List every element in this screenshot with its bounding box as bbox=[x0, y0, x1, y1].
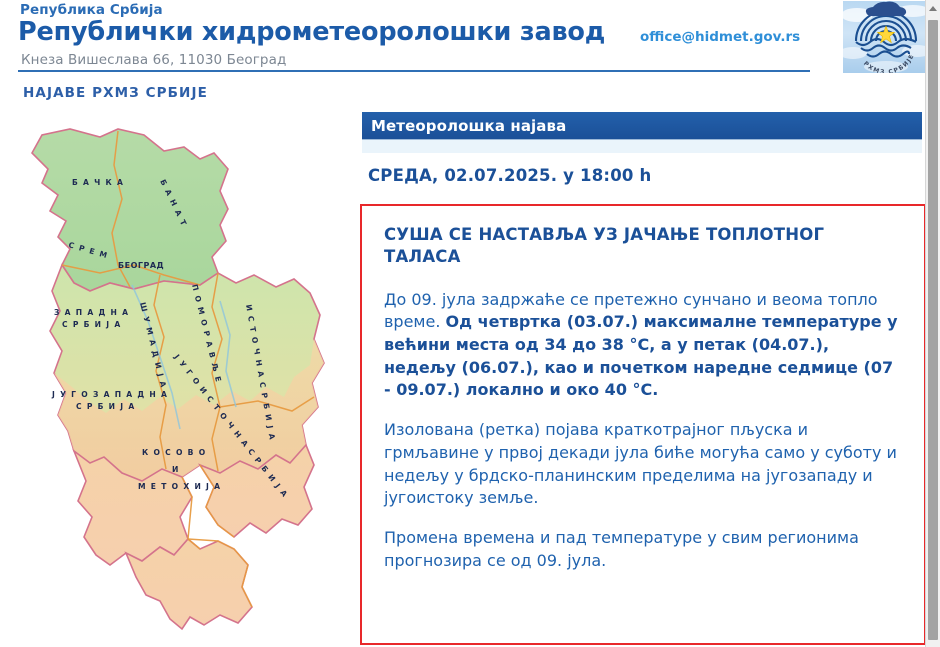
page-scrollbar[interactable] bbox=[925, 0, 940, 647]
map-label-jugozapadna-srbija-1: Ј У Г О З А П А Д Н А bbox=[51, 390, 168, 399]
institute-name: Републички хидрометеоролошки завод bbox=[18, 17, 605, 47]
site-header: Република Србија Републички хидрометеоро… bbox=[0, 0, 940, 78]
chevron-up-icon[interactable] bbox=[926, 0, 940, 17]
alert-heading: СУША СЕ НАСТАВЉА УЗ ЈАЧАЊЕ ТОПЛОТНОГ ТАЛ… bbox=[384, 224, 904, 269]
map-label-zapadna-srbija-1: З А П А Д Н А bbox=[54, 308, 129, 317]
bulletin-panel: Метеоролошка најава СРЕДА, 02.07.2025. у… bbox=[362, 112, 922, 185]
bulletin-timestamp: СРЕДА, 02.07.2025. у 18:00 h bbox=[362, 166, 922, 185]
bulletin-header-label: Метеоролошка најава bbox=[362, 117, 566, 135]
weather-alert-box: СУША СЕ НАСТАВЉА УЗ ЈАЧАЊЕ ТОПЛОТНОГ ТАЛ… bbox=[360, 204, 926, 645]
page-root: Република Србија Републички хидрометеоро… bbox=[0, 0, 940, 647]
map-label-zapadna-srbija-2: С Р Б И Ј А bbox=[62, 320, 122, 329]
alert-paragraph-2: Изолована (ретка) појава краткотрајног п… bbox=[384, 419, 904, 510]
map-label-jugozapadna-srbija-2: С Р Б И Ј А bbox=[76, 402, 136, 411]
map-label-beograd: БЕОГРАД bbox=[118, 261, 164, 270]
country-name: Република Србија bbox=[20, 2, 163, 18]
institute-address: Кнеза Вишеслава 66, 11030 Београд bbox=[21, 52, 286, 68]
alert-paragraph-1: До 09. јула задржаће се претежно сунчано… bbox=[384, 289, 904, 403]
header-divider bbox=[18, 70, 810, 72]
map-label-kosovo-1: К О С О В О bbox=[142, 448, 206, 457]
page-title: НАЈАВЕ РХМЗ СРБИЈЕ bbox=[23, 85, 208, 101]
serbia-regions-map[interactable]: Б А Ч К А Б А Н А Т С Р Е М БЕОГРАД З А … bbox=[14, 125, 354, 635]
alert-paragraph-1-bold: Од четвртка (03.07.) максималне температ… bbox=[384, 312, 898, 399]
alert-paragraph-3: Промена времена и пад температуре у свим… bbox=[384, 527, 904, 572]
bulletin-header-bar: Метеоролошка најава bbox=[362, 112, 922, 140]
map-label-kosovo-2: И bbox=[172, 465, 180, 474]
map-label-kosovo-3: М Е Т О Х И Ј А bbox=[138, 482, 221, 491]
rhmz-emblem-icon: РХМЗ СРБИЈЕ bbox=[843, 1, 929, 73]
contact-email-link[interactable]: office@hidmet.gov.rs bbox=[640, 29, 800, 45]
map-label-backa: Б А Ч К А bbox=[72, 178, 124, 187]
bulletin-subbar bbox=[362, 140, 922, 153]
scrollbar-thumb[interactable] bbox=[928, 20, 938, 640]
